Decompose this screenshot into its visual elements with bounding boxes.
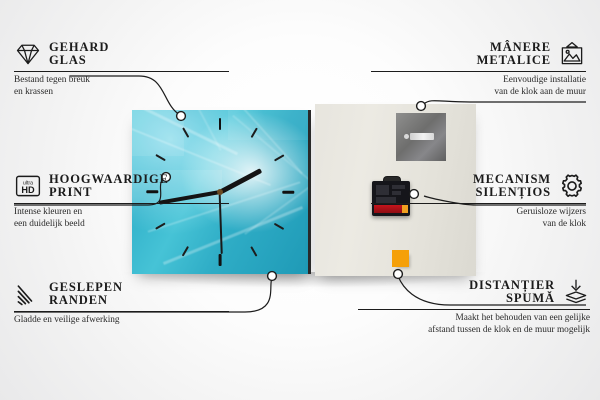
ultra-hd-icon: ultra HD: [14, 172, 42, 200]
feature-distantier-spuma: DISTANȚIER SPUMĂ Maakt het behouden van …: [358, 278, 590, 336]
infographic-canvas: GEHARD GLAS Bestand tegen breuk en krass…: [0, 0, 600, 400]
feature-description: Eenvoudige installatie van de klok aan d…: [371, 75, 586, 98]
feature-rule: [371, 71, 586, 72]
metal-hanger-part: [396, 113, 446, 161]
feature-hoogwaardige-print: ultra HD HOOGWAARDIGE PRINT Intense kleu…: [14, 172, 229, 230]
feature-rule: [358, 309, 590, 310]
feature-rule: [14, 311, 229, 312]
foam-spacer-icon: [562, 278, 590, 306]
feature-gehard-glas: GEHARD GLAS Bestand tegen breuk en krass…: [14, 40, 229, 98]
feature-title: MECANISM SILENȚIOS: [473, 173, 551, 200]
feature-description: Bestand tegen breuk en krassen: [14, 75, 229, 98]
clock-tick: [251, 246, 258, 256]
feature-rule: [14, 71, 229, 72]
diamond-icon: [14, 40, 42, 68]
beveled-edges-icon: [14, 280, 42, 308]
feature-title: GESLEPEN RANDEN: [49, 281, 123, 308]
foam-spacer-part: [392, 250, 409, 267]
feature-title: HOOGWAARDIGE PRINT: [49, 173, 169, 200]
gear-icon: [558, 172, 586, 200]
clock-tick: [219, 118, 222, 130]
feature-manere-metalice: MÂNERE METALICE Eenvoudige installatie v…: [371, 40, 586, 98]
hanger-hole: [404, 134, 409, 139]
feature-description: Gladde en veilige afwerking: [14, 315, 229, 327]
feature-title: GEHARD GLAS: [49, 41, 109, 68]
feature-description: Intense kleuren en een duidelijk beeld: [14, 207, 229, 230]
feature-rule: [371, 203, 586, 204]
feature-description: Geruisloze wijzers van de klok: [371, 207, 586, 230]
feature-title: MÂNERE METALICE: [477, 41, 551, 68]
hanger-slot: [410, 133, 434, 140]
feature-title: DISTANȚIER SPUMĂ: [469, 279, 555, 306]
svg-text:HD: HD: [21, 185, 35, 195]
feature-description: Maakt het behouden van een gelijke afsta…: [358, 313, 590, 336]
clock-tick: [219, 254, 222, 266]
feature-geslepen-randen: GESLEPEN RANDEN Gladde en veilige afwerk…: [14, 280, 229, 327]
feature-mecanism-silentios: MECANISM SILENȚIOS Geruisloze wijzers va…: [371, 172, 586, 230]
feature-rule: [14, 203, 229, 204]
clock-tick: [282, 191, 294, 194]
picture-frame-hanger-icon: [558, 40, 586, 68]
clock-tick: [274, 223, 284, 230]
